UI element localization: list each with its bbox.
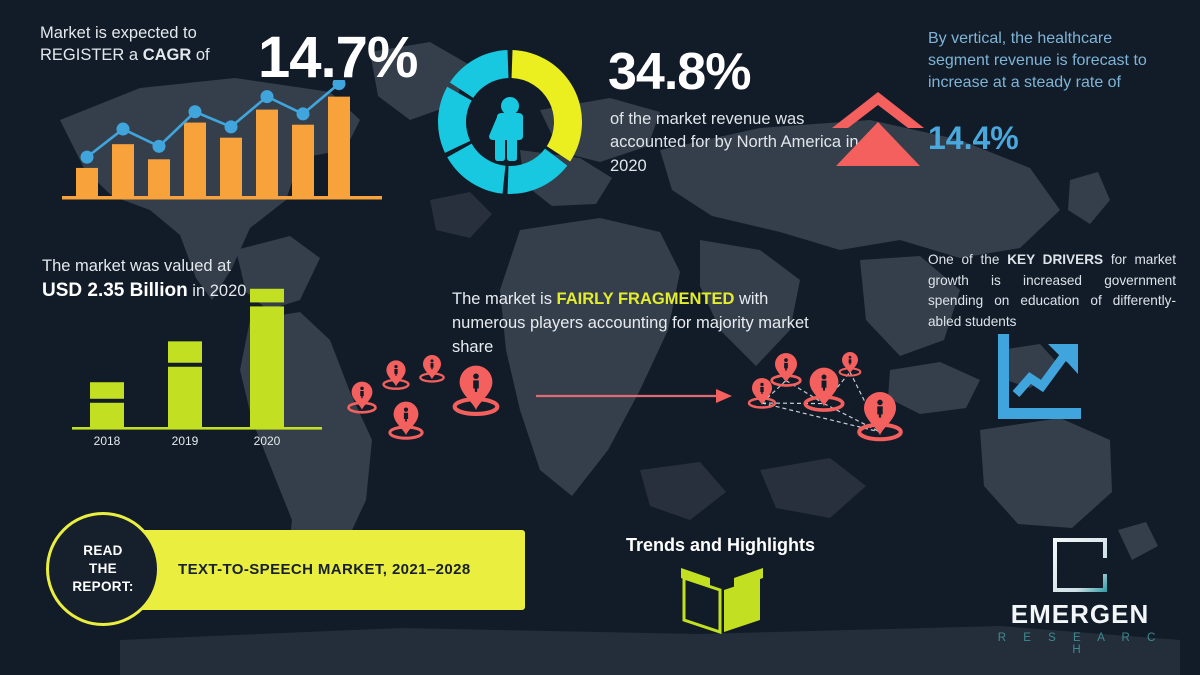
map-pin-icon (859, 392, 901, 439)
cta-line2: THE (89, 561, 117, 576)
map-pin-icon (420, 355, 443, 382)
x-axis-label: 2019 (172, 434, 199, 448)
cagr-desc-bold: CAGR (143, 46, 192, 64)
report-title: TEXT-TO-SPEECH MARKET, 2021–2028 (178, 561, 471, 578)
line-marker (297, 107, 310, 120)
open-book-icon (676, 562, 768, 639)
market-value-line1: The market was valued at (42, 257, 231, 275)
chart-baseline (62, 196, 382, 200)
trends-heading: Trends and Highlights (626, 535, 815, 556)
line-marker (117, 123, 130, 136)
bar (184, 123, 206, 196)
bar (220, 138, 242, 196)
cagr-description: Market is expected to REGISTER a CAGR of (40, 22, 240, 67)
bar (328, 97, 350, 196)
north-america-share-value: 34.8% (608, 42, 750, 102)
cagr-desc-line2-pre: REGISTER a (40, 46, 143, 64)
square-bracket-logo-icon (1050, 535, 1110, 595)
cta-line1: READ (83, 543, 122, 558)
bar-body (90, 403, 124, 427)
frag-highlight: FAIRLY FRAGMENTED (557, 290, 735, 308)
donut-segment (512, 50, 582, 161)
line-marker (261, 90, 274, 103)
bar (76, 168, 98, 196)
healthcare-vertical-value: 14.4% (928, 120, 1019, 157)
line-marker (81, 151, 94, 164)
bar-body (168, 367, 202, 427)
connected-players-cluster (728, 348, 918, 463)
revenue-share-donut (432, 44, 588, 205)
flow-arrow-icon (536, 386, 734, 411)
read-the-report-badge[interactable]: READ THE REPORT: (46, 512, 160, 626)
map-pin-icon (384, 360, 409, 388)
x-axis-label: 2018 (94, 434, 121, 448)
map-pin-icon (805, 368, 842, 410)
map-pin-icon (390, 402, 422, 439)
bar-cap (90, 382, 124, 399)
cta-line3: REPORT: (72, 579, 133, 594)
line-marker (153, 140, 166, 153)
growth-chart-icon (992, 330, 1088, 431)
person-icon (489, 97, 523, 161)
read-report-bar[interactable]: TEXT-TO-SPEECH MARKET, 2021–2028 (140, 530, 525, 610)
bar (292, 125, 314, 196)
cagr-desc-line1: Market is expected to (40, 24, 197, 42)
double-up-arrow-icon (832, 92, 924, 175)
logo-subtitle: R E S E A R C H (990, 632, 1170, 656)
bar-body (250, 306, 284, 427)
bar (148, 159, 170, 196)
cagr-desc-line2-post: of (191, 46, 209, 64)
healthcare-vertical-description: By vertical, the healthcare segment reve… (928, 28, 1170, 94)
map-pin-icon (348, 382, 375, 413)
infographic-canvas: Market is expected to REGISTER a CAGR of… (0, 0, 1200, 675)
growth-trend-bar-chart (62, 80, 382, 210)
bar-cap (250, 289, 284, 303)
key-drivers-description: One of the KEY DRIVERS for market growth… (928, 250, 1176, 333)
map-pin-icon (772, 353, 801, 385)
bar (112, 144, 134, 196)
bar (256, 110, 278, 196)
pin-connector-line (762, 403, 824, 404)
map-pin-icon (840, 352, 861, 376)
kd-highlight: KEY DRIVERS (1007, 252, 1103, 267)
line-marker (189, 105, 202, 118)
fragmented-players-cluster (336, 352, 526, 457)
emergen-research-logo: EMERGEN R E S E A R C H (990, 535, 1170, 656)
line-marker (225, 120, 238, 133)
bar-cap (168, 341, 202, 362)
map-pin-icon (455, 366, 498, 414)
chart-baseline (72, 427, 322, 430)
frag-pre: The market is (452, 290, 557, 308)
market-value-bar-chart: 201820192020 (72, 275, 322, 465)
donut-segment (450, 50, 509, 98)
x-axis-label: 2020 (254, 434, 281, 448)
donut-segment (438, 87, 472, 153)
kd-pre: One of the (928, 252, 1007, 267)
logo-wordmark: EMERGEN (990, 601, 1170, 627)
north-america-description: of the market revenue was accounted for … (610, 108, 860, 178)
